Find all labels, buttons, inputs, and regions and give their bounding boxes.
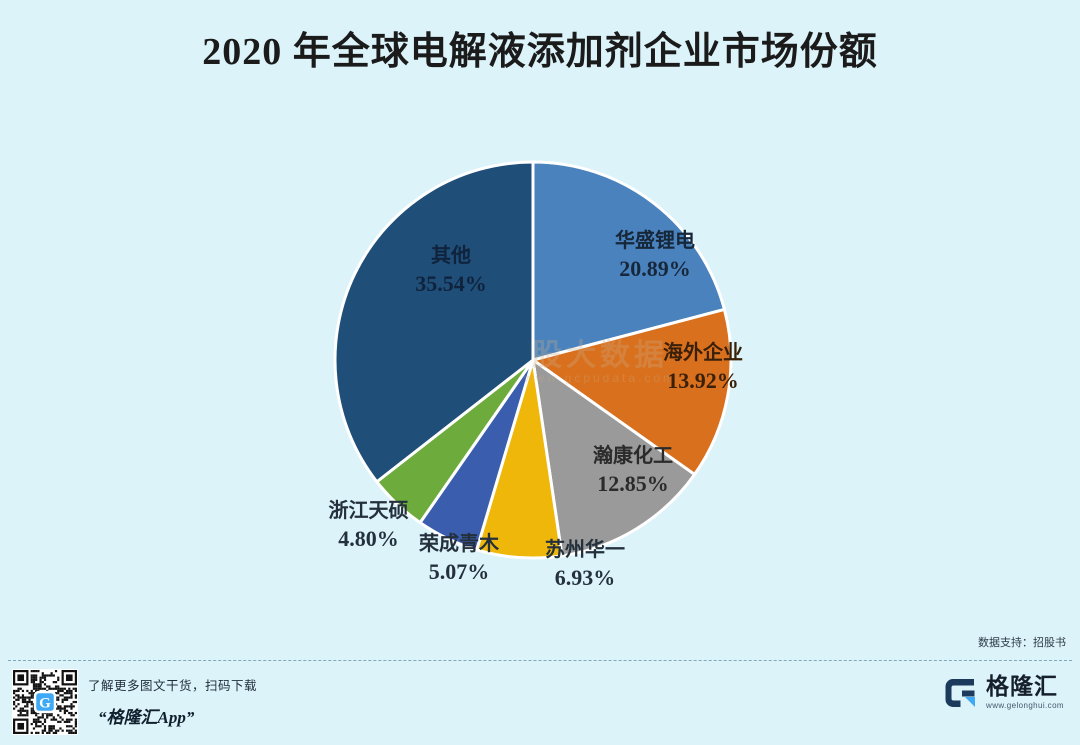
qr-code[interactable]: G xyxy=(12,669,78,735)
brand-name: 格隆汇 xyxy=(986,675,1064,698)
brand-logo[interactable]: 格隆汇 www.gelonghui.com xyxy=(944,675,1064,710)
chart-page: 2020 年全球电解液添加剂企业市场份额 股大数据 www.gcpudata.c… xyxy=(0,0,1080,745)
pie-chart-svg xyxy=(288,160,778,560)
slice-label-value: 5.07% xyxy=(385,557,533,586)
brand-text: 格隆汇 www.gelonghui.com xyxy=(986,675,1064,710)
gelonghui-logo-icon xyxy=(944,676,978,710)
footer-promo-line: 了解更多图文干货，扫码下载 xyxy=(88,675,257,694)
footer-app-name: “格隆汇App” xyxy=(98,703,257,728)
source-note: 数据支持：招股书 xyxy=(978,634,1066,650)
footer: G 了解更多图文干货，扫码下载 “格隆汇App” 格隆汇 www.gelongh… xyxy=(0,661,1080,745)
page-title: 2020 年全球电解液添加剂企业市场份额 xyxy=(0,20,1080,75)
qr-code-image: G xyxy=(13,670,77,734)
brand-url: www.gelonghui.com xyxy=(986,701,1064,710)
footer-text: 了解更多图文干货，扫码下载 “格隆汇App” xyxy=(88,675,257,728)
slice-label-value: 6.93% xyxy=(510,563,660,592)
pie-chart xyxy=(288,160,778,560)
svg-text:G: G xyxy=(39,696,51,712)
